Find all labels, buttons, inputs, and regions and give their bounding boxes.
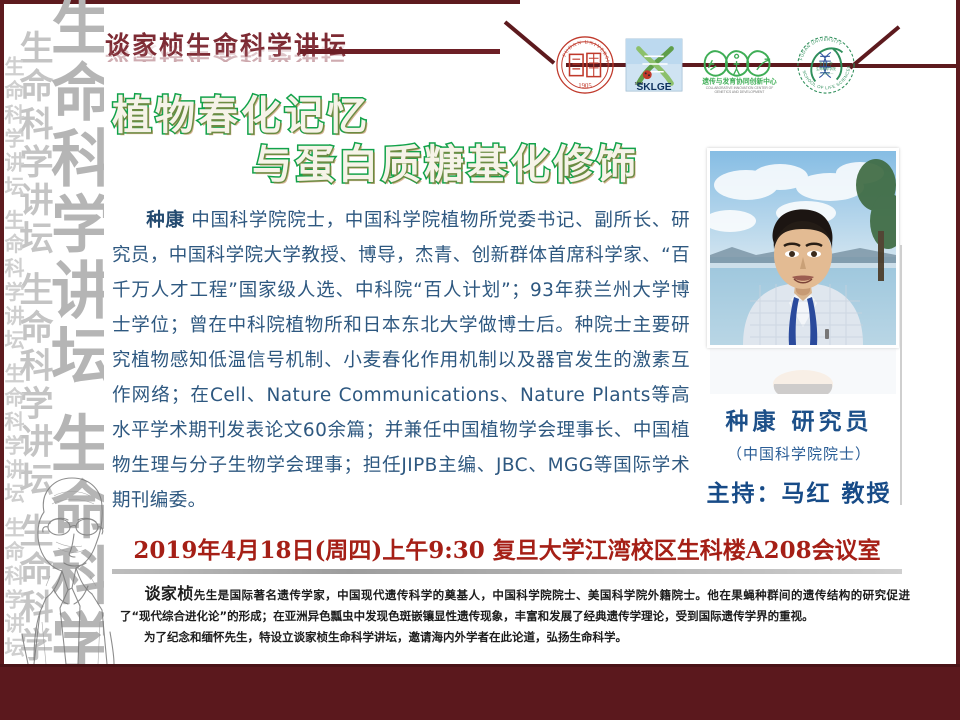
- svg-text:GENETICS AND DEVELOPMENT: GENETICS AND DEVELOPMENT: [715, 90, 765, 94]
- footer-paragraph-2: 为了纪念和缅怀先生，特设立谈家桢生命科学讲坛，邀请海内外学者在此论道，弘扬生命科…: [120, 627, 910, 648]
- svg-text:复旦大学: 复旦大学: [819, 61, 833, 66]
- event-host: 主持：马红 教授: [690, 474, 908, 508]
- speaker-photo-reflection: [707, 348, 899, 394]
- frame-top-left-border: [0, 0, 520, 4]
- footer-highlight-name: 谈家桢: [144, 584, 194, 603]
- speaker-photo-image: [710, 151, 896, 345]
- speaker-biography: 种康 中国科学院院士，中国科学院植物所党委书记、副所长、研究员，中国科学院大学教…: [112, 203, 690, 518]
- frame-right-border: [956, 0, 960, 672]
- footer-paragraph-1: 谈家桢先生是国际著名遗传学家，中国现代遗传科学的奠基人，中国科学院院士、美国科学…: [120, 583, 910, 627]
- forum-title-rule: [300, 49, 500, 54]
- speaker-name: 种康 研究员: [690, 402, 908, 436]
- collaborative-innovation-center-logo: 遗传与发育协同创新中心 COLLABORATIVE INNOVATION CEN…: [693, 35, 786, 95]
- bio-text: 中国科学院院士，中国科学院植物所党委书记、副所长、研究员，中国科学院大学教授、博…: [112, 210, 690, 511]
- date-underline-rule: [112, 569, 902, 574]
- bottom-bar: [0, 667, 960, 720]
- speaker-affiliation: （中国科学院院士）: [690, 443, 908, 464]
- forum-title-block: 谈家桢生命科学讲坛 谈家桢生命科学讲坛: [105, 34, 505, 90]
- poster-root: 生命科学讲坛 生命科学讲坛 生命科学讲坛 生命科学讲坛 生命科学讲坛 生命科学讲…: [0, 0, 960, 720]
- frame-left-border: [0, 0, 4, 672]
- school-of-life-sciences-logo: FUDAN UNIVERSITY SCHOOL OF LIFE SCIENCES…: [796, 35, 856, 95]
- svg-text:遗传与发育协同创新中心: 遗传与发育协同创新中心: [701, 76, 777, 85]
- tan-jiazhen-sketch-portrait: [10, 464, 122, 664]
- svg-text:— 1926 —: — 1926 —: [819, 72, 835, 76]
- fudan-university-logo: FUDAN UNIVERSITY 1905: [555, 35, 615, 95]
- footer-note: 谈家桢先生是国际著名遗传学家，中国现代遗传科学的奠基人，中国科学院院士、美国科学…: [120, 583, 910, 648]
- footer-paragraph-2-text: 为了纪念和缅怀先生，特设立谈家桢生命科学讲坛，邀请海内外学者在此论道，弘扬生命科…: [144, 630, 627, 644]
- title-line-1: 植物春化记忆: [112, 93, 370, 139]
- svg-text:生命科学学院: 生命科学学院: [816, 66, 836, 71]
- bio-speaker-name: 种康: [146, 210, 185, 231]
- title-line-2: 与蛋白质糖基化修饰: [112, 141, 692, 190]
- svg-text:1905: 1905: [578, 83, 592, 90]
- page-title: 植物春化记忆 与蛋白质糖基化修饰: [112, 92, 692, 190]
- speaker-info-block: 种康 研究员 （中国科学院院士） 主持：马红 教授: [690, 402, 908, 508]
- speaker-photo: [707, 148, 899, 348]
- event-datetime-venue: 2019年4月18日(周四)上午9:30 复旦大学江湾校区生科楼A208会议室: [112, 531, 902, 565]
- sklge-logo: 1984 SKLGE: [625, 35, 683, 95]
- event-datetime-venue-block: 2019年4月18日(周四)上午9:30 复旦大学江湾校区生科楼A208会议室: [112, 531, 902, 574]
- frame-diagonal-left: [504, 20, 556, 64]
- logo-row: FUDAN UNIVERSITY 1905 1984 SKLGE: [555, 34, 895, 96]
- footer-paragraph-1-text: 先生是国际著名遗传学家，中国现代遗传科学的奠基人，中国科学院院士、美国科学院外籍…: [120, 588, 910, 623]
